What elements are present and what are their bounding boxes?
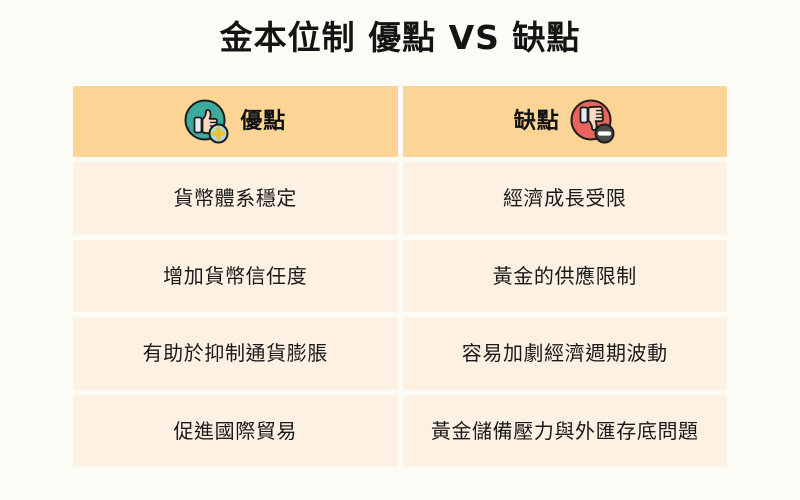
table-cell-cons: 經濟成長受限 [403, 162, 728, 235]
table-header-row: 優點 缺點 [73, 86, 727, 157]
table-cell-cons: 黃金儲備壓力與外匯存底問題 [403, 395, 728, 468]
table-cell-pros: 促進國際貿易 [73, 395, 398, 468]
table-row: 增加貨幣信任度 黃金的供應限制 [73, 240, 727, 313]
thumbs-up-plus-icon [184, 99, 230, 145]
cell-text: 黃金的供應限制 [493, 262, 637, 290]
cell-text: 貨幣體系穩定 [173, 184, 297, 212]
cell-text: 有助於抑制通貨膨脹 [143, 339, 328, 367]
pros-cons-table: 優點 缺點 [73, 86, 727, 467]
page-title: 金本位制 優點 VS 缺點 [0, 16, 800, 60]
table-header-label-pros: 優點 [240, 107, 286, 137]
table-row: 有助於抑制通貨膨脹 容易加劇經濟週期波動 [73, 317, 727, 390]
thumbs-down-minus-icon [570, 99, 616, 145]
cell-text: 增加貨幣信任度 [163, 262, 307, 290]
table-header-cell-cons: 缺點 [403, 86, 728, 157]
table-cell-cons: 容易加劇經濟週期波動 [403, 317, 728, 390]
cell-text: 促進國際貿易 [173, 417, 297, 445]
cell-text: 容易加劇經濟週期波動 [462, 339, 668, 367]
table-header-cell-pros: 優點 [73, 86, 398, 157]
table-row: 促進國際貿易 黃金儲備壓力與外匯存底問題 [73, 395, 727, 468]
infographic-page: 金本位制 優點 VS 缺點 [0, 0, 800, 500]
cell-text: 經濟成長受限 [503, 184, 627, 212]
table-cell-pros: 貨幣體系穩定 [73, 162, 398, 235]
table-cell-pros: 增加貨幣信任度 [73, 240, 398, 313]
table-header-label-cons: 缺點 [514, 107, 560, 137]
table-cell-cons: 黃金的供應限制 [403, 240, 728, 313]
cell-text: 黃金儲備壓力與外匯存底問題 [431, 417, 699, 445]
table-row: 貨幣體系穩定 經濟成長受限 [73, 162, 727, 235]
table-cell-pros: 有助於抑制通貨膨脹 [73, 317, 398, 390]
